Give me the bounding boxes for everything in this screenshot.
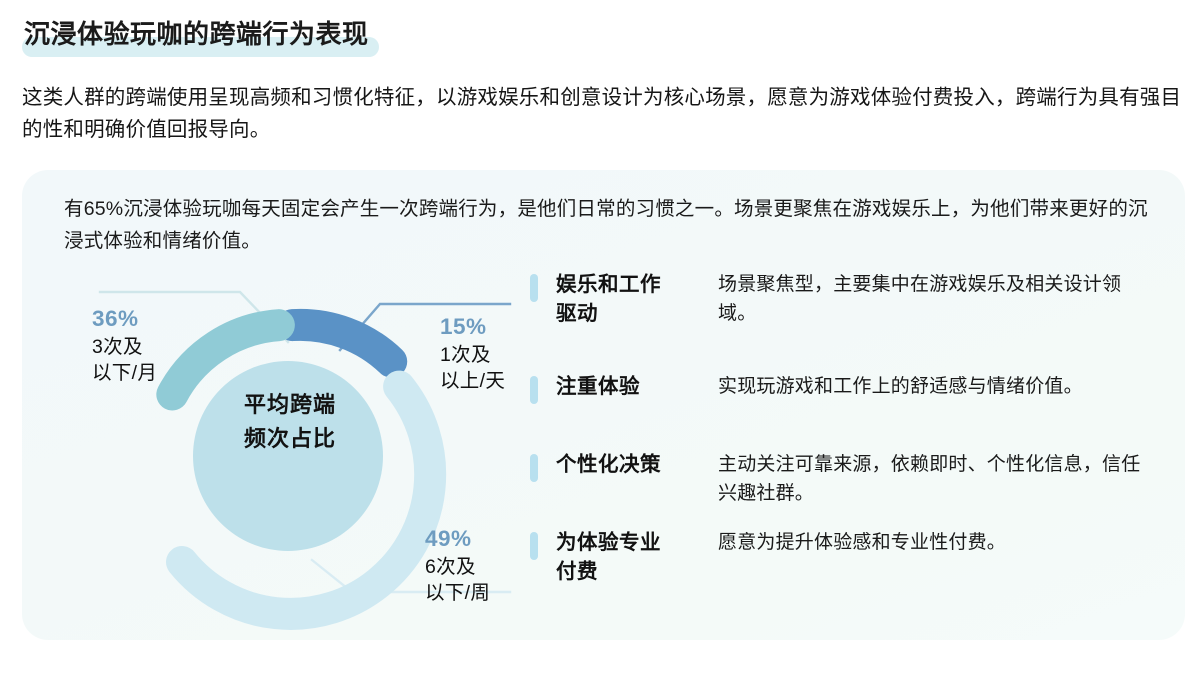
feature-name: 为体验专业 付费 — [556, 528, 706, 586]
feature-name: 娱乐和工作 驱动 — [556, 270, 706, 328]
feature-desc: 主动关注可靠来源，依赖即时、个性化信息，信任兴趣社群。 — [718, 450, 1158, 509]
list-item: 为体验专业 付费 愿意为提升体验感和专业性付费。 — [530, 528, 1158, 586]
intro-paragraph: 这类人群的跨端使用呈现高频和习惯化特征，以游戏娱乐和创意设计为核心场景，愿意为游… — [22, 82, 1194, 147]
donut-callout-36: 36% 3次及 以下/月 — [92, 304, 157, 386]
donut-arc-15 — [293, 325, 392, 362]
donut-callout-49-percent: 49% — [425, 524, 490, 554]
feature-name-line2: 付费 — [556, 560, 598, 583]
feature-name-line1: 注重体验 — [556, 375, 640, 398]
bullet-marker-icon — [530, 454, 538, 482]
page-title-wrap: 沉浸体验玩咖的跨端行为表现 — [22, 16, 379, 55]
list-item: 个性化决策 主动关注可靠来源，依赖即时、个性化信息，信任兴趣社群。 — [530, 450, 1158, 509]
donut-callout-15: 15% 1次及 以上/天 — [440, 312, 505, 394]
feature-name: 个性化决策 — [556, 450, 706, 479]
feature-desc: 实现玩游戏和工作上的舒适感与情绪价值。 — [718, 372, 1158, 401]
bullet-marker-icon — [530, 274, 538, 302]
donut-callout-15-line2: 以上/天 — [440, 370, 505, 392]
donut-callout-36-line2: 以下/月 — [92, 362, 157, 384]
feature-name-line2: 驱动 — [556, 302, 598, 325]
donut-callout-36-line1: 3次及 — [92, 336, 143, 358]
donut-callout-49: 49% 6次及 以下/周 — [425, 524, 490, 606]
list-item: 注重体验 实现玩游戏和工作上的舒适感与情绪价值。 — [530, 372, 1158, 404]
card-lead-paragraph: 有65%沉浸体验玩咖每天固定会产生一次跨端行为，是他们日常的习惯之一。场景更聚焦… — [64, 194, 1154, 257]
list-item: 娱乐和工作 驱动 场景聚焦型，主要集中在游戏娱乐及相关设计领域。 — [530, 270, 1158, 329]
bullet-marker-icon — [530, 376, 538, 404]
feature-desc: 场景聚焦型，主要集中在游戏娱乐及相关设计领域。 — [718, 270, 1158, 329]
donut-chart: 平均跨端 频次占比 36% 3次及 以下/月 15% 1次及 以上/天 49% … — [40, 270, 540, 630]
donut-callout-36-percent: 36% — [92, 304, 157, 334]
donut-inner-circle — [193, 361, 383, 551]
donut-callout-15-line1: 1次及 — [440, 344, 491, 366]
bullet-marker-icon — [530, 532, 538, 560]
page-title-text: 沉浸体验玩咖的跨端行为表现 — [24, 19, 369, 49]
content-card: 有65%沉浸体验玩咖每天固定会产生一次跨端行为，是他们日常的习惯之一。场景更聚焦… — [22, 170, 1185, 640]
feature-name-line1: 个性化决策 — [556, 453, 661, 476]
page-title: 沉浸体验玩咖的跨端行为表现 — [22, 16, 379, 55]
feature-desc: 愿意为提升体验感和专业性付费。 — [718, 528, 1158, 557]
donut-callout-15-percent: 15% — [440, 312, 505, 342]
feature-name: 注重体验 — [556, 372, 706, 401]
feature-name-line1: 为体验专业 — [556, 531, 661, 554]
feature-name-line1: 娱乐和工作 — [556, 273, 661, 296]
donut-callout-49-line1: 6次及 — [425, 556, 476, 578]
donut-callout-49-line2: 以下/周 — [425, 582, 490, 604]
